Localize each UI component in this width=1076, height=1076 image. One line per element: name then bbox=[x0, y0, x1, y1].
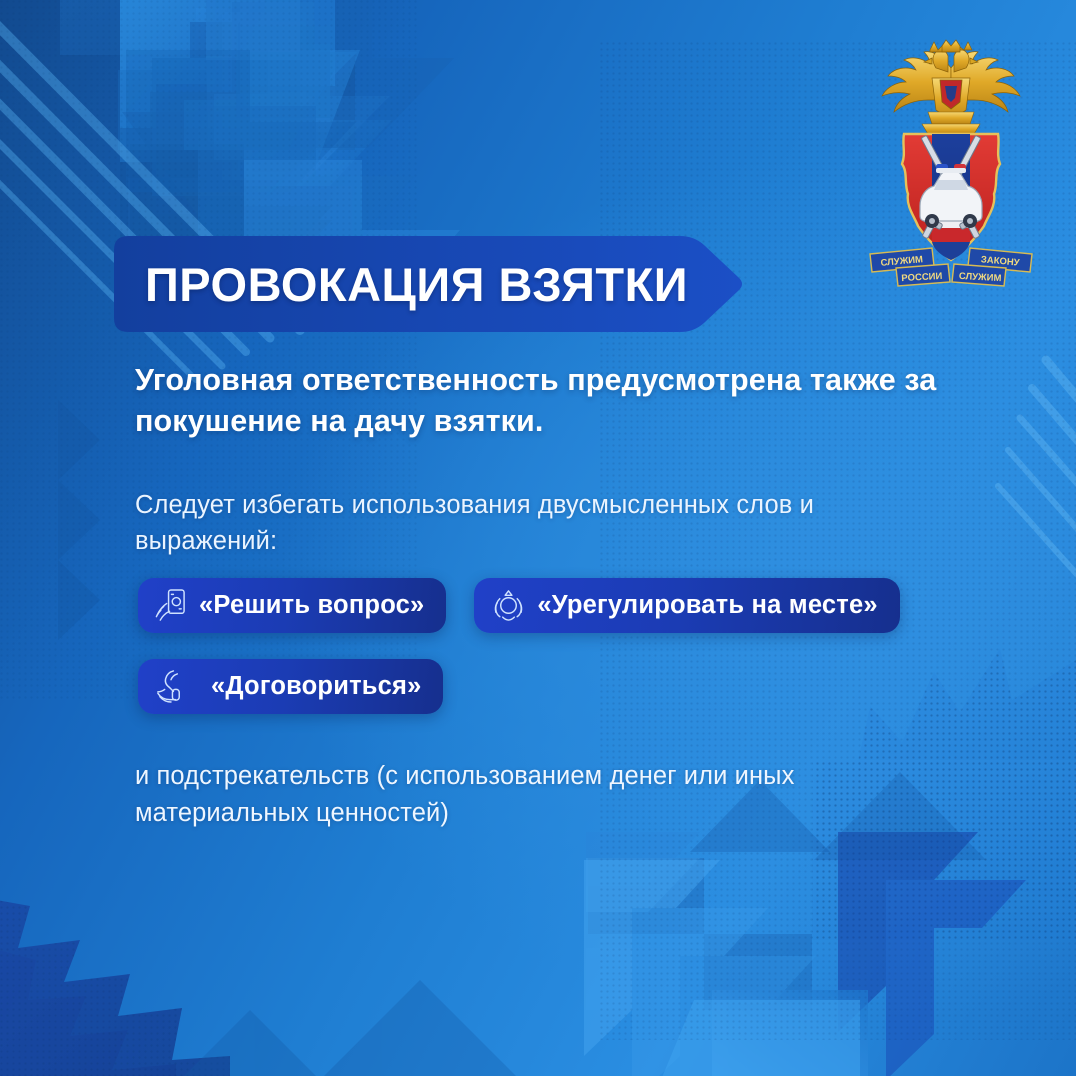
chip-label: «Договориться» bbox=[199, 672, 421, 701]
phrase-chip-group: «Решить вопрос» «Урегулировать на месте» bbox=[138, 578, 1018, 740]
subtext-intro: Следует избегать использования двусмысле… bbox=[135, 487, 945, 559]
chip-row-1: «Решить вопрос» «Урегулировать на месте» bbox=[138, 578, 1018, 633]
footnote-text: и подстрекательств (с использованием ден… bbox=[135, 758, 975, 832]
chip-uregulirovat-na-meste[interactable]: «Урегулировать на месте» bbox=[474, 578, 899, 633]
chip-row-2: «Договориться» bbox=[138, 659, 1018, 714]
title-banner: ПРОВОКАЦИЯ ВЗЯТКИ bbox=[114, 236, 746, 332]
mvd-russia-emblem: СЛУЖИМ ЗАКОНУ РОССИИ СЛУЖИМ bbox=[862, 38, 1040, 288]
hand-holding-banknote-icon bbox=[154, 587, 187, 624]
page-title: ПРОВОКАЦИЯ ВЗЯТКИ bbox=[114, 257, 688, 312]
two-hands-coin-icon bbox=[492, 587, 525, 624]
chip-label: «Решить вопрос» bbox=[199, 591, 424, 620]
chevron-cluster-bottom-center bbox=[170, 980, 520, 1076]
headline-text: Уголовная ответственность предусмотрена … bbox=[135, 360, 965, 441]
poster-root: СЛУЖИМ ЗАКОНУ РОССИИ СЛУЖИМ ПРОВОКАЦИЯ В… bbox=[0, 0, 1076, 1076]
starburst-bottom-left bbox=[0, 890, 230, 1076]
hand-passing-money-icon bbox=[154, 668, 187, 705]
chip-reshit-vopros[interactable]: «Решить вопрос» bbox=[138, 578, 446, 633]
chip-dogovoritsya[interactable]: «Договориться» bbox=[138, 659, 443, 714]
ribbon-text-bottom-right: СЛУЖИМ bbox=[959, 271, 1002, 284]
ribbon-text-bottom-left: РОССИИ bbox=[901, 271, 943, 284]
chip-label: «Урегулировать на месте» bbox=[537, 591, 877, 620]
